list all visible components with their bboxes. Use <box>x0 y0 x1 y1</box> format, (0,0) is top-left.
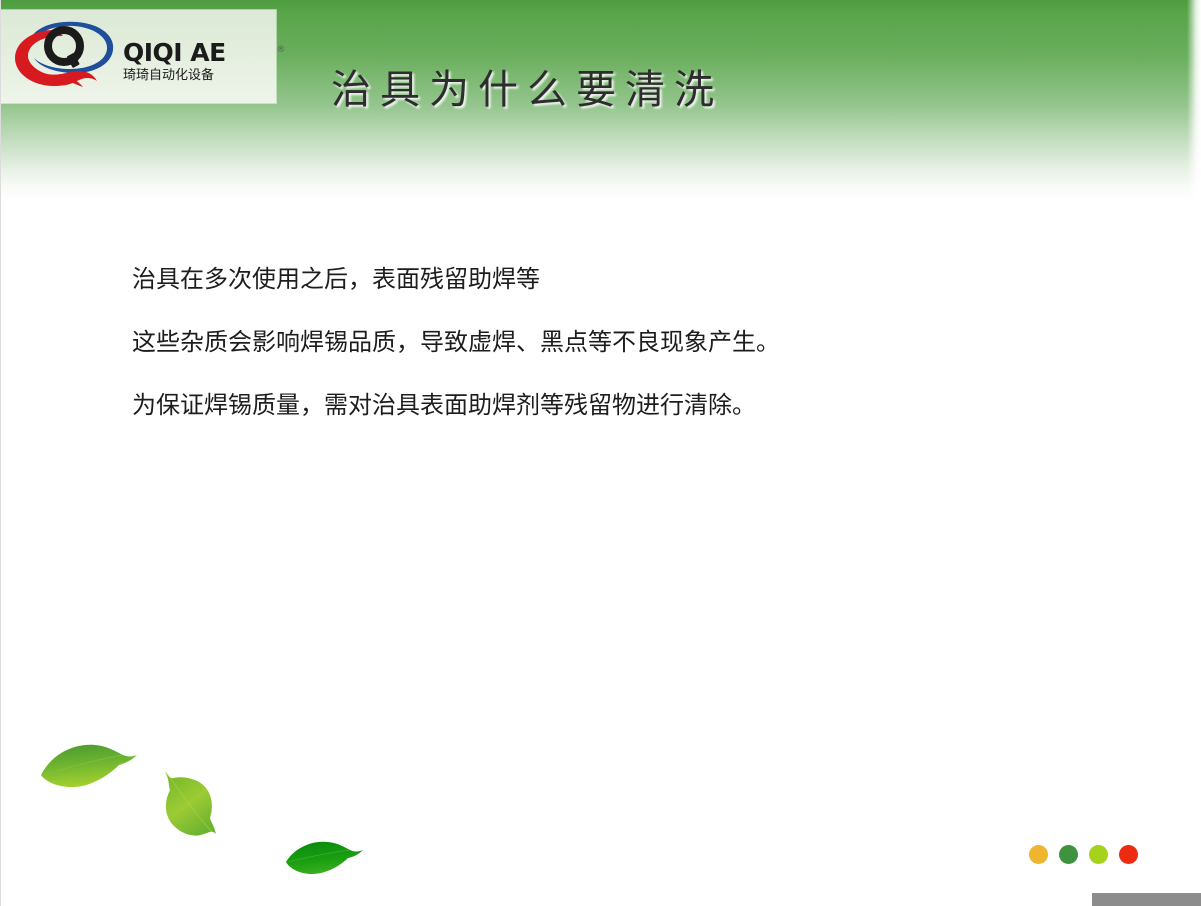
dot-amber-icon <box>1029 845 1048 864</box>
logo-text-block: QIQI AE ® 琦琦自动化设备 <box>123 40 273 96</box>
qiqi-q-swoosh-logo-icon <box>9 16 119 96</box>
dot-red-icon <box>1119 845 1138 864</box>
registered-trademark-icon: ® <box>277 37 286 63</box>
dot-yellow-green-icon <box>1089 845 1108 864</box>
logo-brand-text: QIQI AE <box>123 38 226 67</box>
bottom-right-gray-bar <box>1092 893 1201 906</box>
presentation-slide: QIQI AE ® 琦琦自动化设备 治具为什么要清洗 治具在多次使用之后，表面残… <box>0 0 1201 906</box>
header-band-right-fade <box>1187 0 1201 200</box>
leaf-large-left-icon <box>39 735 139 800</box>
logo-brand-name: QIQI AE ® <box>123 40 273 66</box>
body-line: 为保证焊锡质量，需对治具表面助焊剂等残留物进行清除。 <box>132 392 1032 421</box>
page-title: 治具为什么要清洗 <box>331 66 1031 114</box>
body-line: 治具在多次使用之后，表面残留助焊等 <box>132 266 1032 295</box>
slide-body: 治具在多次使用之后，表面残留助焊等 这些杂质会影响焊锡品质，导致虚焊、黑点等不良… <box>132 266 1032 455</box>
company-logo-panel: QIQI AE ® 琦琦自动化设备 <box>1 10 276 103</box>
leaf-medium-mid-icon <box>156 762 226 847</box>
decorative-dot-row <box>1029 845 1138 864</box>
dot-green-icon <box>1059 845 1078 864</box>
logo-subtitle: 琦琦自动化设备 <box>123 67 273 85</box>
leaf-small-right-icon <box>284 836 366 883</box>
body-line: 这些杂质会影响焊锡品质，导致虚焊、黑点等不良现象产生。 <box>132 329 1032 358</box>
